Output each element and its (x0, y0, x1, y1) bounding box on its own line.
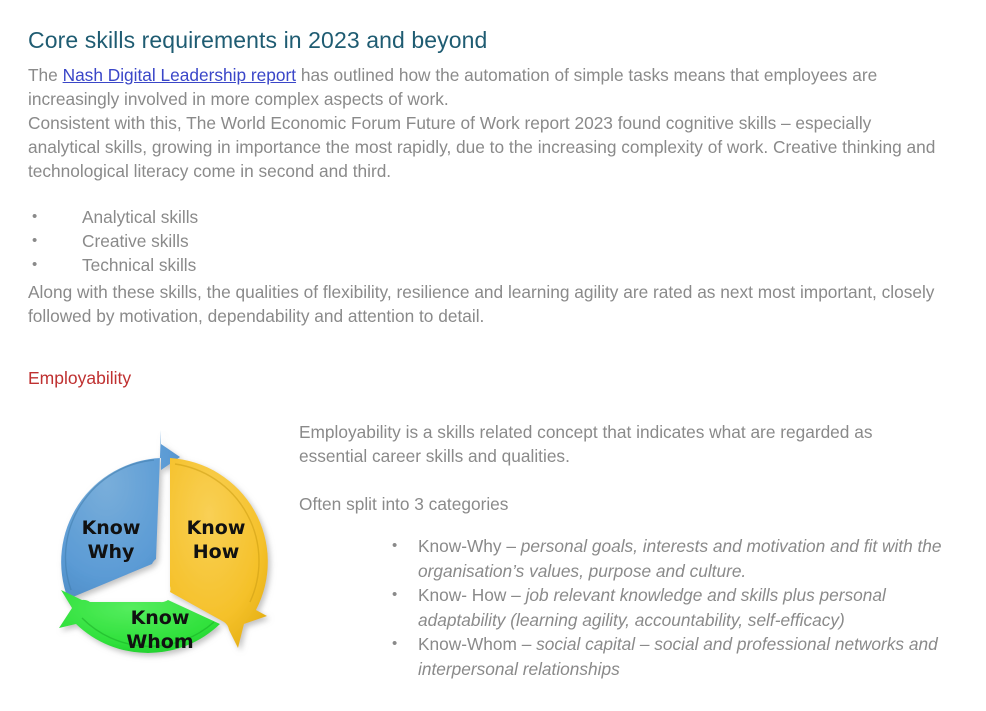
closing-paragraph: Along with these skills, the qualities o… (28, 281, 958, 329)
know-why-how-whom-cycle-diagram: Know Why Know How Know Whom (28, 424, 304, 696)
bullet-icon: • (32, 229, 37, 253)
cycle-segment-know-why (61, 430, 180, 599)
list-item: • Know-Why – personal goals, interests a… (389, 534, 949, 583)
employability-subnote: Often split into 3 categories (299, 493, 508, 517)
intro-lead-text: The (28, 65, 63, 85)
bullet-icon: • (32, 253, 37, 277)
page-title: Core skills requirements in 2023 and bey… (28, 27, 487, 54)
employability-categories-list: • Know-Why – personal goals, interests a… (389, 534, 949, 682)
know-why-label-line2: Why (88, 541, 135, 563)
nash-digital-leadership-report-link[interactable]: Nash Digital Leadership report (63, 65, 296, 85)
intro-paragraph-2: Consistent with this, The World Economic… (28, 112, 948, 183)
category-term: Know- How – (418, 585, 526, 605)
list-item: • Know-Whom – social capital – social an… (389, 632, 949, 681)
bullet-icon: • (392, 583, 397, 608)
list-item-label: Technical skills (82, 255, 196, 275)
employability-intro-paragraph: Employability is a skills related concep… (299, 421, 924, 469)
list-item: • Creative skills (28, 229, 198, 253)
know-whom-label-line1: Know (131, 607, 190, 629)
intro-paragraph-1: The Nash Digital Leadership report has o… (28, 64, 938, 112)
list-item: • Know- How – job relevant knowledge and… (389, 583, 949, 632)
know-how-label-line1: Know (187, 517, 246, 539)
bullet-icon: • (392, 534, 397, 559)
list-item: • Analytical skills (28, 205, 198, 229)
list-item-label: Creative skills (82, 231, 189, 251)
document-page: Core skills requirements in 2023 and bey… (0, 0, 986, 711)
bullet-icon: • (392, 632, 397, 657)
know-whom-label-line2: Whom (126, 631, 193, 653)
employability-heading: Employability (28, 368, 131, 389)
list-item: • Technical skills (28, 253, 198, 277)
know-why-arc-shape (61, 430, 180, 599)
know-why-label-line1: Know (82, 517, 141, 539)
category-term: Know-Why – (418, 536, 521, 556)
bullet-icon: • (32, 205, 37, 229)
know-how-label-line2: How (193, 541, 240, 563)
core-skills-list: • Analytical skills • Creative skills • … (28, 205, 198, 277)
list-item-label: Analytical skills (82, 207, 198, 227)
category-term: Know-Whom – (418, 634, 536, 654)
